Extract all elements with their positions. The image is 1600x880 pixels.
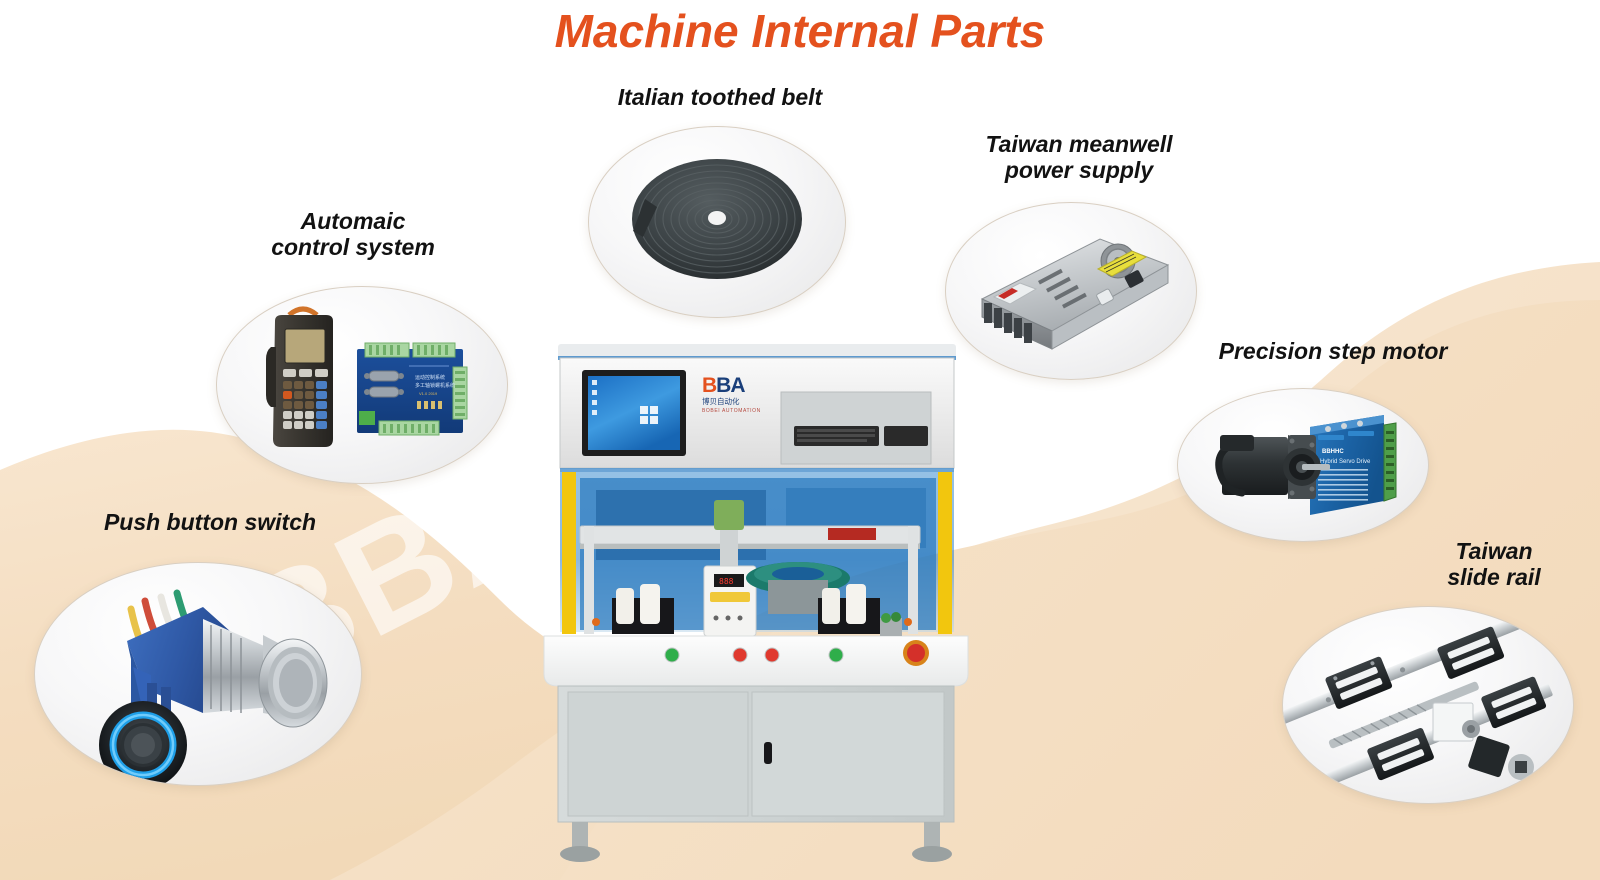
label-taiwan-meanwell-power-supply: Taiwan meanwell power supply	[954, 131, 1204, 183]
infographic-canvas: BBA Machine Machine Internal Parts	[0, 0, 1600, 880]
svg-text:BOBEI AUTOMATION: BOBEI AUTOMATION	[702, 408, 761, 414]
power-supply-art	[946, 203, 1196, 379]
svg-text:V1.0 2019: V1.0 2019	[419, 391, 438, 396]
machine-photo: BBA 博贝自动化 BOBEI AUTOMATION	[536, 330, 976, 880]
page-title: Machine Internal Parts	[0, 4, 1600, 58]
svg-text:BBA: BBA	[702, 374, 745, 397]
bubble-push-button-switch	[34, 562, 362, 786]
label-italian-toothed-belt: Italian toothed belt	[580, 84, 860, 110]
bubble-italian-toothed-belt	[588, 126, 846, 318]
svg-text:运动控制系统: 运动控制系统	[415, 374, 445, 381]
svg-text:BBHHC: BBHHC	[1322, 449, 1344, 455]
control-system-art: 运动控制系统 多工轴锁螺机系统 V1.0 2019	[217, 287, 507, 483]
label-push-button-switch: Push button switch	[100, 509, 320, 535]
bubble-automatic-control-system: 运动控制系统 多工轴锁螺机系统 V1.0 2019	[216, 286, 508, 484]
emergency-stop-button	[903, 640, 929, 666]
push-button-switch-art	[35, 563, 361, 785]
label-automatic-control-system: Automaic control system	[253, 208, 453, 260]
bubble-taiwan-slide-rail	[1282, 606, 1574, 804]
label-precision-step-motor: Precision step motor	[1205, 338, 1461, 364]
step-motor-art: BBHHC Hybrid Servo Drive	[1178, 389, 1428, 541]
svg-text:888: 888	[719, 577, 734, 586]
toothed-belt-art	[589, 127, 845, 317]
slide-rail-art	[1283, 607, 1573, 803]
bubble-taiwan-meanwell-power-supply	[945, 202, 1197, 380]
label-taiwan-slide-rail: Taiwan slide rail	[1404, 538, 1584, 590]
svg-text:博贝自动化: 博贝自动化	[702, 396, 740, 406]
svg-text:多工轴锁螺机系统: 多工轴锁螺机系统	[415, 382, 455, 389]
bubble-precision-step-motor: BBHHC Hybrid Servo Drive	[1177, 388, 1429, 542]
